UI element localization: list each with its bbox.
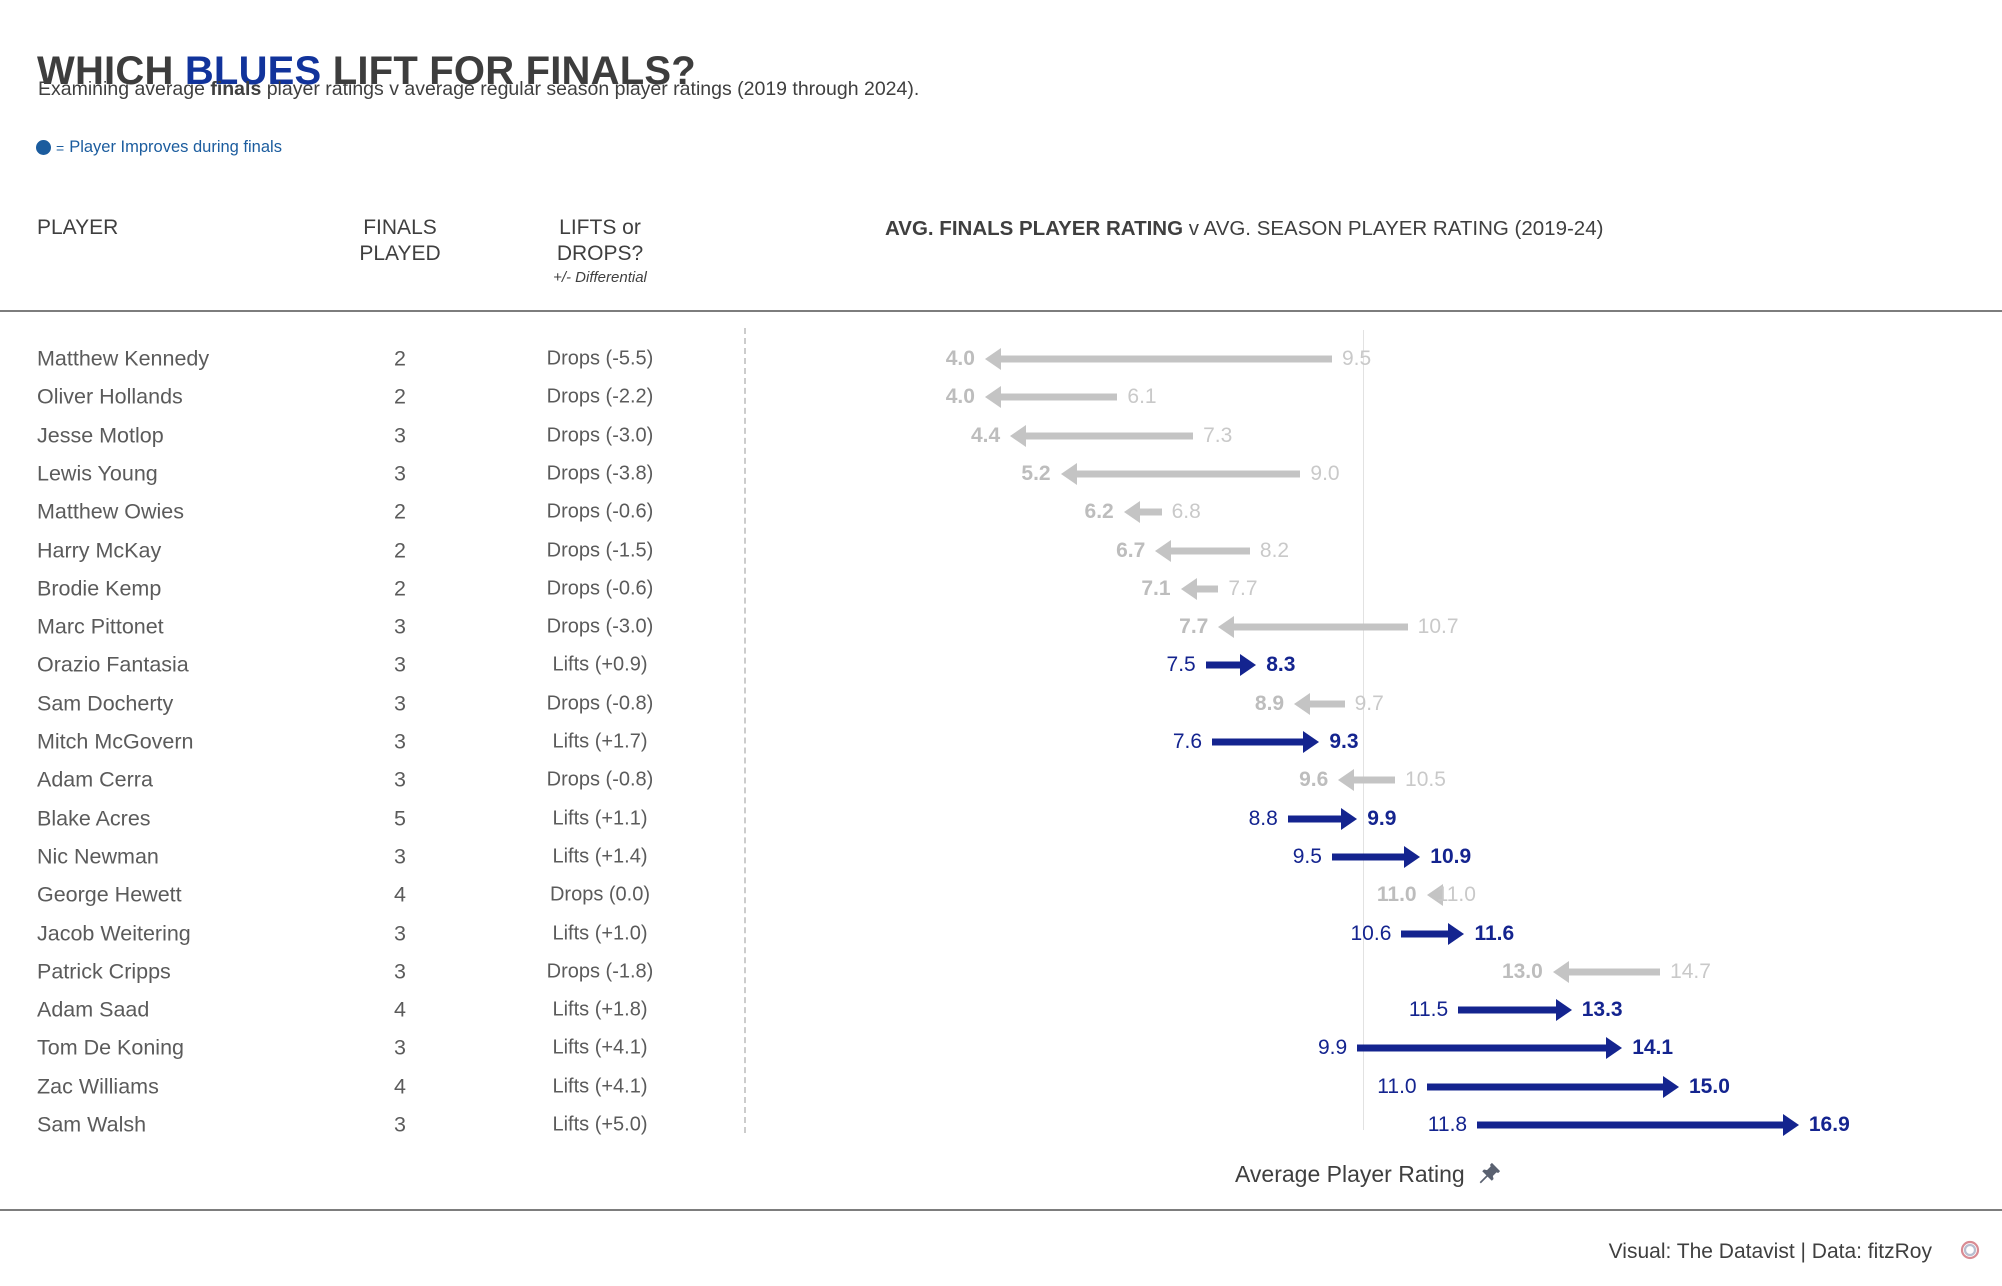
credit-text: Visual: The Datavist | Data: fitzRoy (1609, 1240, 1932, 1264)
legend: = Player Improves during finals (36, 138, 282, 157)
season-rating-label: 9.5 (1293, 845, 1322, 869)
arrow-head (1783, 1114, 1799, 1136)
arrow-head (1303, 731, 1319, 753)
arrow-head (1240, 654, 1256, 676)
arrow-shaft (1197, 585, 1219, 592)
table-row: Oliver Hollands2Drops (-2.2)6.14.0 (0, 378, 2002, 416)
column-header-lifts-line1: LIFTS or (530, 215, 670, 241)
season-rating-label: 11.0 (1377, 1075, 1416, 1099)
finals-rating-label: 16.9 (1809, 1113, 1850, 1137)
finals-rating-label: 7.1 (1141, 577, 1170, 601)
arrow-shaft (1477, 1122, 1783, 1129)
drop-arrow: 6.86.2 (0, 501, 2002, 523)
arrow-head (1338, 769, 1354, 791)
arrow-head (1294, 693, 1310, 715)
table-row: Lewis Young3Drops (-3.8)9.05.2 (0, 455, 2002, 493)
season-rating-label: 6.1 (1127, 385, 1156, 409)
table-row: Adam Cerra3Drops (-0.8)10.59.6 (0, 761, 2002, 799)
lift-arrow: 7.69.3 (0, 731, 2002, 753)
arrow-shaft (1401, 930, 1448, 937)
arrow-head (1218, 616, 1234, 638)
season-rating-label: 10.5 (1405, 768, 1446, 792)
arrow-shaft (1458, 1007, 1556, 1014)
arrow-head (1124, 501, 1140, 523)
season-rating-label: 10.7 (1418, 615, 1459, 639)
season-rating-label: 8.2 (1260, 539, 1289, 563)
finals-rating-label: 4.0 (946, 347, 975, 371)
season-rating-label: 7.7 (1228, 577, 1257, 601)
lift-arrow: 8.89.9 (0, 808, 2002, 830)
arrow-shaft (1234, 624, 1407, 631)
legend-dot-icon (36, 140, 51, 155)
arrow-shaft (1077, 470, 1301, 477)
arrow-shaft (1171, 547, 1250, 554)
season-rating-label: 7.3 (1203, 424, 1232, 448)
drop-arrow: 7.34.4 (0, 425, 2002, 447)
legend-label: Player Improves during finals (69, 138, 282, 157)
finals-rating-label: 7.7 (1179, 615, 1208, 639)
season-rating-label: 11.5 (1409, 998, 1448, 1022)
finals-rating-label: 15.0 (1689, 1075, 1730, 1099)
table-row: Matthew Kennedy2Drops (-5.5)9.54.0 (0, 340, 2002, 378)
lift-arrow: 10.611.6 (0, 923, 2002, 945)
arrow-shaft (1354, 777, 1395, 784)
table-row: Sam Docherty3Drops (-0.8)9.78.9 (0, 685, 2002, 723)
arrow-head (1404, 846, 1420, 868)
column-header-lifts-sub: +/- Differential (530, 269, 670, 287)
lift-arrow: 9.914.1 (0, 1037, 2002, 1059)
finals-rating-label: 6.2 (1085, 500, 1114, 524)
arrow-shaft (1001, 356, 1332, 363)
lift-arrow: 11.816.9 (0, 1114, 2002, 1136)
table-row: Sam Walsh3Lifts (+5.0)11.816.9 (0, 1106, 2002, 1144)
drop-arrow: 8.26.7 (0, 540, 2002, 562)
column-header-finals-line2: PLAYED (335, 241, 465, 267)
season-rating-label: 9.9 (1318, 1036, 1347, 1060)
legend-equals: = (56, 140, 64, 156)
subtitle-post: player ratings v average regular season … (261, 78, 919, 100)
arrow-shaft (1427, 1083, 1663, 1090)
circle-logo-icon (1958, 1238, 1982, 1262)
subtitle-bold: finals (210, 78, 261, 100)
finals-rating-label: 8.3 (1266, 653, 1295, 677)
arrow-head (1061, 463, 1077, 485)
arrow-head (1010, 425, 1026, 447)
arrow-head (985, 386, 1001, 408)
finals-rating-label: 9.3 (1329, 730, 1358, 754)
season-rating-label: 7.5 (1167, 653, 1196, 677)
finals-rating-label: 10.9 (1430, 845, 1471, 869)
season-rating-label: 9.7 (1355, 692, 1384, 716)
arrow-shaft (1001, 394, 1118, 401)
finals-rating-label: 9.6 (1299, 768, 1328, 792)
average-rating-label: Average Player Rating (1235, 1161, 1465, 1188)
season-rating-label: 7.6 (1173, 730, 1202, 754)
drop-arrow: 9.05.2 (0, 463, 2002, 485)
table-row: Blake Acres5Lifts (+1.1)8.89.9 (0, 800, 2002, 838)
finals-rating-label: 14.1 (1632, 1036, 1673, 1060)
season-rating-label: 11.8 (1428, 1113, 1467, 1137)
season-rating-label: 9.5 (1342, 347, 1371, 371)
footer-divider-rule (0, 1209, 2002, 1211)
arrow-shaft (1206, 662, 1240, 669)
subtitle: Examining average finals player ratings … (38, 78, 919, 101)
drop-arrow: 14.713.0 (0, 961, 2002, 983)
table-row: Jesse Motlop3Drops (-3.0)7.34.4 (0, 417, 2002, 455)
table-row: Marc Pittonet3Drops (-3.0)10.77.7 (0, 608, 2002, 646)
table-row: Orazio Fantasia3Lifts (+0.9)7.58.3 (0, 646, 2002, 684)
finals-rating-label: 11.6 (1474, 922, 1514, 946)
finals-rating-label: 4.4 (971, 424, 1000, 448)
lift-arrow: 11.513.3 (0, 999, 2002, 1021)
chart-header-bold: AVG. FINALS PLAYER RATING (885, 217, 1183, 240)
arrow-head (985, 348, 1001, 370)
drop-arrow: 10.77.7 (0, 616, 2002, 638)
arrow-head (1663, 1076, 1679, 1098)
arrow-shaft (1357, 1045, 1606, 1052)
arrow-head (1556, 999, 1572, 1021)
column-header-lifts-line2: DROPS? (530, 241, 670, 267)
season-rating-label: 14.7 (1670, 960, 1711, 984)
arrow-shaft (1332, 853, 1404, 860)
season-rating-label: 8.8 (1249, 807, 1278, 831)
season-rating-label: 10.6 (1351, 922, 1392, 946)
finals-rating-label: 9.9 (1367, 807, 1396, 831)
column-header-finals-played: FINALS PLAYED (335, 215, 465, 266)
arrow-shaft (1569, 968, 1660, 975)
chart-header-rest: v AVG. SEASON PLAYER RATING (2019-24) (1183, 217, 1603, 240)
table-row: Patrick Cripps3Drops (-1.8)14.713.0 (0, 953, 2002, 991)
drop-arrow: 9.78.9 (0, 693, 2002, 715)
drop-arrow: 11.011.0 (0, 884, 2002, 906)
table-row: Tom De Koning3Lifts (+4.1)9.914.1 (0, 1029, 2002, 1067)
finals-rating-label: 4.0 (946, 385, 975, 409)
finals-rating-label: 6.7 (1116, 539, 1145, 563)
table-row: Brodie Kemp2Drops (-0.6)7.77.1 (0, 570, 2002, 608)
drop-arrow: 6.14.0 (0, 386, 2002, 408)
table-row: Nic Newman3Lifts (+1.4)9.510.9 (0, 838, 2002, 876)
arrow-head (1606, 1037, 1622, 1059)
finals-rating-label: 13.3 (1582, 998, 1623, 1022)
table-row: Matthew Owies2Drops (-0.6)6.86.2 (0, 493, 2002, 531)
arrow-shaft (1212, 739, 1303, 746)
table-row: Harry McKay2Drops (-1.5)8.26.7 (0, 532, 2002, 570)
drop-arrow: 10.59.6 (0, 769, 2002, 791)
infographic-canvas: WHICH BLUES LIFT FOR FINALS? Examining a… (0, 0, 2002, 1286)
arrow-shaft (1026, 432, 1193, 439)
column-header-player: PLAYER (37, 215, 118, 241)
arrow-shaft (1140, 509, 1162, 516)
subtitle-pre: Examining average (38, 78, 210, 100)
arrow-head (1181, 578, 1197, 600)
lift-arrow: 11.015.0 (0, 1076, 2002, 1098)
season-rating-label: 11.0 (1437, 883, 1476, 907)
finals-rating-label: 13.0 (1502, 960, 1543, 984)
finals-rating-label: 5.2 (1021, 462, 1050, 486)
arrow-shaft (1310, 700, 1344, 707)
season-rating-label: 6.8 (1172, 500, 1201, 524)
column-header-finals-line1: FINALS (335, 215, 465, 241)
header-divider-rule (0, 310, 2002, 312)
arrow-head (1341, 808, 1357, 830)
table-row: Jacob Weitering3Lifts (+1.0)10.611.6 (0, 915, 2002, 953)
pushpin-icon (1475, 1160, 1503, 1188)
table-row: George Hewett4Drops (0.0)11.011.0 (0, 876, 2002, 914)
arrow-head (1155, 540, 1171, 562)
column-header-chart: AVG. FINALS PLAYER RATING v AVG. SEASON … (885, 216, 1603, 241)
arrow-head (1448, 923, 1464, 945)
season-rating-label: 9.0 (1310, 462, 1339, 486)
table-row: Zac Williams4Lifts (+4.1)11.015.0 (0, 1068, 2002, 1106)
arrow-shaft (1288, 815, 1341, 822)
arrow-head (1553, 961, 1569, 983)
drop-arrow: 9.54.0 (0, 348, 2002, 370)
lift-arrow: 9.510.9 (0, 846, 2002, 868)
table-row: Adam Saad4Lifts (+1.8)11.513.3 (0, 991, 2002, 1029)
drop-arrow: 7.77.1 (0, 578, 2002, 600)
lift-arrow: 7.58.3 (0, 654, 2002, 676)
column-header-lifts-drops: LIFTS or DROPS? +/- Differential (530, 215, 670, 288)
table-row: Mitch McGovern3Lifts (+1.7)7.69.3 (0, 723, 2002, 761)
finals-rating-label: 11.0 (1377, 883, 1417, 907)
finals-rating-label: 8.9 (1255, 692, 1284, 716)
